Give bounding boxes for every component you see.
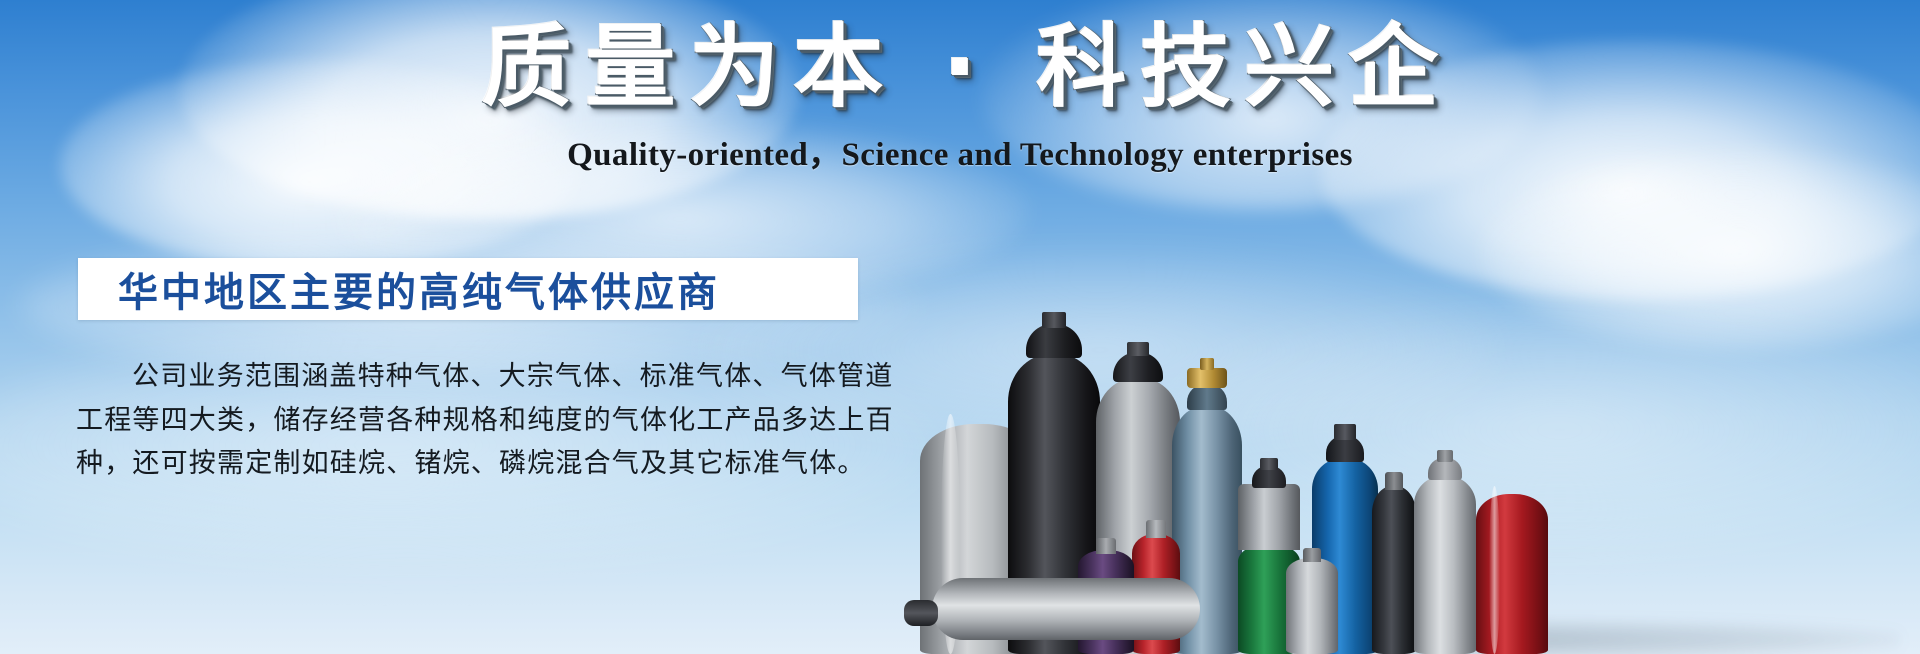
cylinder-lying-valve [904, 600, 938, 626]
cylinder-dark-slim [1372, 466, 1416, 654]
cylinder-aluminium [1414, 446, 1476, 654]
intro-line-1: 公司业务范围涵盖特种气体、大宗气体、标准气体、气体管道 [76, 355, 876, 399]
highlight-bar-text: 华中地区主要的高纯气体供应商 [78, 260, 720, 318]
highlight-bar: 华中地区主要的高纯气体供应商 [78, 258, 858, 320]
headline-block: 质量为本 · 科技兴企 Quality-oriented，Science and… [0, 18, 1920, 175]
banner-sub-title: Quality-oriented，Science and Technology … [0, 127, 1920, 175]
hero-banner: 质量为本 · 科技兴企 Quality-oriented，Science and… [0, 0, 1920, 654]
gas-cylinders-photo [920, 134, 1920, 654]
banner-main-title: 质量为本 · 科技兴企 [0, 18, 1920, 119]
cylinder-lying-grey [932, 578, 1200, 640]
intro-line-2: 工程等四大类，储存经营各种规格和纯度的气体化工产品多达上百 [76, 399, 876, 443]
cylinder-red-large [1476, 486, 1548, 654]
cylinder-aluminium-small [1286, 546, 1338, 654]
intro-paragraph: 公司业务范围涵盖特种气体、大宗气体、标准气体、气体管道 工程等四大类，储存经营各… [76, 355, 876, 486]
intro-line-3: 种，还可按需定制如硅烷、锗烷、磷烷混合气及其它标准气体。 [76, 442, 876, 486]
